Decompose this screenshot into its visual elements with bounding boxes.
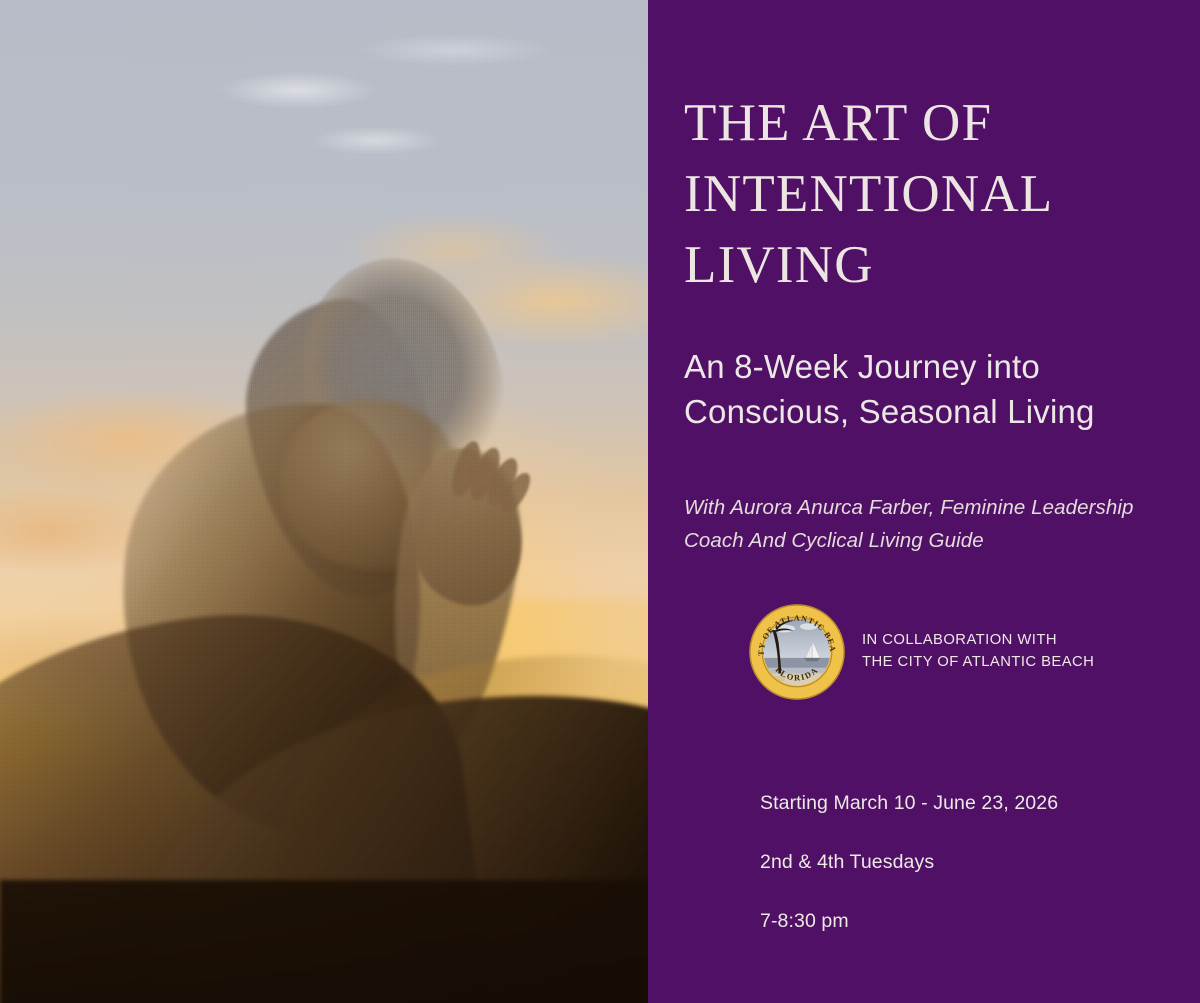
collaboration-text: In collaboration with The City of Atlant… xyxy=(862,630,1094,674)
info-panel: The Art of Intentional Living An 8-Week … xyxy=(648,0,1200,1003)
city-of-atlantic-beach-seal-icon: CITY OF ATLANTIC BEACH FLORIDA xyxy=(748,603,846,701)
presenter-credit: With Aurora Anurca Farber, Feminine Lead… xyxy=(684,491,1160,557)
page-title: The Art of Intentional Living xyxy=(684,88,1160,301)
event-flyer: The Art of Intentional Living An 8-Week … xyxy=(0,0,1200,1003)
schedule-recurrence: 2nd & 4th Tuesdays xyxy=(760,848,1160,878)
schedule-time: 7-8:30 pm xyxy=(760,907,1160,937)
schedule-dates: Starting March 10 - June 23, 2026 xyxy=(760,789,1160,819)
subtitle: An 8-Week Journey into Conscious, Season… xyxy=(684,345,1160,435)
schedule-block: Starting March 10 - June 23, 2026 2nd & … xyxy=(684,759,1160,966)
collaboration-block: CITY OF ATLANTIC BEACH FLORIDA In collab… xyxy=(684,603,1160,701)
hero-photo-woman-praying-at-sunset xyxy=(0,0,648,1003)
photo-halftone-grain xyxy=(0,0,648,1003)
